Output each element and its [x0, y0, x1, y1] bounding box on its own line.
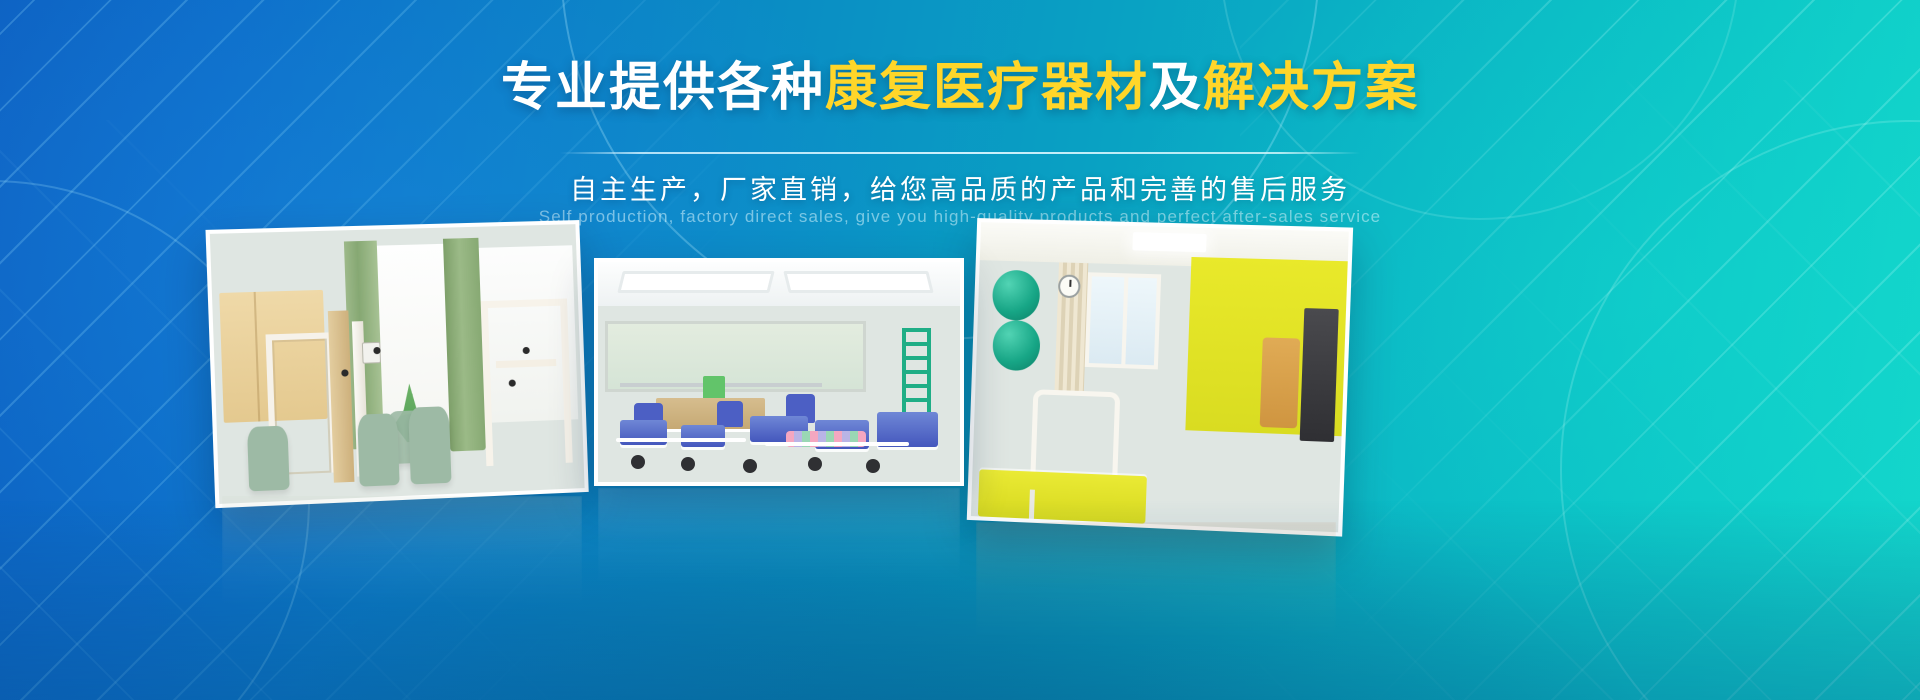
ceiling-light-shape	[617, 271, 775, 293]
photo-reflection-left	[222, 496, 582, 606]
yellow-treatment-table-shape	[978, 469, 1147, 523]
blue-chair-shape	[717, 401, 742, 427]
white-frame-shape	[765, 442, 910, 446]
caster-wheel-shape	[631, 455, 645, 469]
photo-rehab-gym-blue-image	[598, 262, 960, 482]
caster-wheel-shape	[743, 459, 757, 473]
exercise-ball-shape	[992, 320, 1041, 372]
banner-root: 专业提供各种康复医疗器材及解决方案 自主生产，厂家直销，给您高品质的产品和完善的…	[0, 0, 1920, 700]
ceiling-light-shape	[1133, 232, 1207, 252]
photo-rehab-room-wooden[interactable]	[205, 220, 588, 508]
photo-gallery	[0, 0, 1920, 700]
green-chair-shape	[408, 406, 451, 485]
caster-wheel-shape	[808, 457, 822, 471]
photo-reflection-right	[976, 522, 1336, 640]
caster-wheel-shape	[866, 459, 880, 473]
photo-rehab-room-yellow[interactable]	[967, 218, 1353, 537]
ceiling-light-shape	[783, 271, 933, 293]
wooden-panel-shape	[1259, 337, 1299, 428]
caster-wheel-shape	[681, 457, 695, 471]
window-shape	[1085, 272, 1162, 369]
photo-reflection-center	[598, 488, 960, 584]
table-leg-shape	[1028, 489, 1034, 519]
green-chair-shape	[247, 426, 290, 492]
mirror-wall-shape	[605, 321, 866, 391]
exercise-ball-shape	[992, 270, 1041, 322]
blue-therapy-bed-shape	[681, 425, 724, 447]
photo-rehab-room-yellow-image	[971, 222, 1349, 532]
photo-rehab-gym-blue[interactable]	[594, 258, 964, 486]
training-frame-right-shape	[481, 298, 573, 465]
white-frame-shape	[616, 438, 746, 442]
photo-rehab-room-wooden-image	[210, 224, 585, 504]
green-chair-shape	[357, 413, 400, 487]
exercise-machine-shape	[1300, 309, 1338, 442]
